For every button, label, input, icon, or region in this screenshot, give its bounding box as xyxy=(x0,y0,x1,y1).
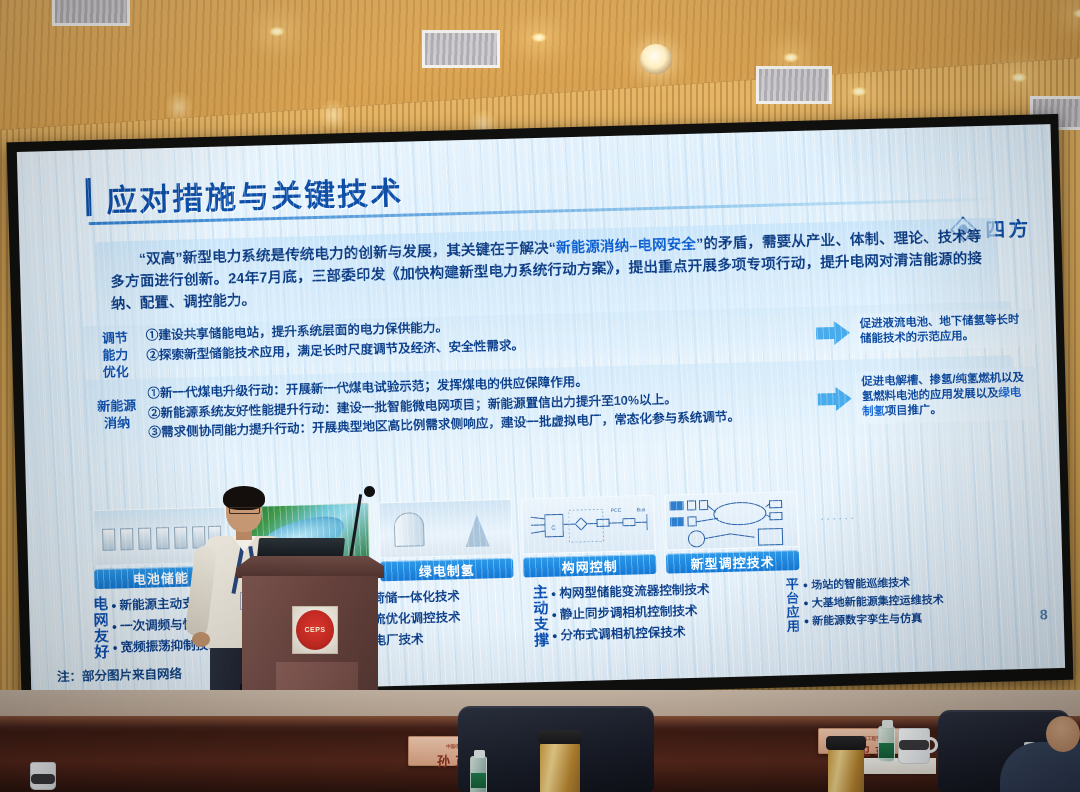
callout-consumption: 促进电解槽、掺氢/纯氢燃机以及氢燃料电池的应用发展以及绿电制氢项目推广。 xyxy=(817,367,1038,426)
hvac-vent xyxy=(756,66,832,104)
ceiling-downlight xyxy=(268,26,286,37)
right-arrow-icon xyxy=(817,385,852,412)
tech-item: 静止同步调相机控制技术 xyxy=(551,600,710,625)
new-dispatch-diagram xyxy=(664,491,798,551)
slide-footnote: 注：部分图片来自网络 xyxy=(57,663,182,685)
bus-label: Bus xyxy=(637,507,646,513)
measure-label-regulation: 调节 能力 优化 xyxy=(84,327,147,382)
thumbnail-caption: 绿电制氢 xyxy=(380,558,513,582)
tech-item-list: 构网型储能变流器控制技术 静止同步调相机控制技术 分布式调相机控保技术 xyxy=(551,579,711,646)
water-bottle xyxy=(470,756,487,792)
intro-paragraph: “双高”新型电力系统是传统电力的创新与发展，其关键在于解决“新能源消纳–电网安全… xyxy=(109,226,982,316)
tech-item: 大基地新能源集控运维技术 xyxy=(803,591,944,613)
label-line: 新能源 xyxy=(85,397,147,416)
pcc-label: PCC xyxy=(611,508,622,514)
measure-label-consumption: 新能源 消纳 xyxy=(85,385,149,445)
podium-laptop xyxy=(257,538,345,558)
attendee-head xyxy=(1046,716,1080,752)
right-arrow-icon xyxy=(816,320,851,347)
presenter-hand xyxy=(192,632,210,647)
label-line: 调节 xyxy=(84,329,146,348)
tech-column-label: 平台应用 xyxy=(783,577,801,633)
thermos-flask xyxy=(828,748,864,792)
callout-text: 促进电解槽、掺氢/纯氢燃机以及氢燃料电池的应用发展以及绿电制氢项目推广。 xyxy=(855,367,1038,425)
green-hydrogen-photo xyxy=(378,499,512,559)
presentation-slide: 应对措施与关键技术 四方 “双高”新型电力系统是传统电力的创新与发展，其关键在于… xyxy=(17,124,1065,696)
ceiling-downlight xyxy=(850,86,868,97)
ceiling-downlight xyxy=(782,52,800,63)
microphone-icon xyxy=(364,486,375,497)
thumbnail-green-hydrogen: 绿电制氢 xyxy=(378,499,513,582)
conference-room-photo: 应对措施与关键技术 四方 “双高”新型电力系统是传统电力的创新与发展，其关键在于… xyxy=(0,0,1080,792)
slide-page-number: 8 xyxy=(1040,606,1048,622)
ceiling-downlight xyxy=(1010,72,1028,83)
callout-text: 促进液流电池、地下储氢等长时储能技术的示范应用。 xyxy=(853,309,1036,352)
thermos-flask xyxy=(540,742,580,792)
tech-item-list: 场站的智能巡维技术 大基地新能源集控运维技术 新能源数字孪生与仿真 xyxy=(803,573,945,631)
thumbnail-new-dispatch: 新型调控技术 xyxy=(664,491,799,574)
label-line: 消纳 xyxy=(86,414,148,433)
ceiling-dome-light xyxy=(640,44,672,74)
tech-column-platform: 平台应用 场站的智能巡维技术 大基地新能源集控运维技术 新能源数字孪生与仿真 xyxy=(783,573,945,641)
intro-highlight: 新能源消纳–电网安全 xyxy=(556,237,697,257)
tea-mug xyxy=(898,728,930,764)
projection-screen: 应对措施与关键技术 四方 “双高”新型电力系统是传统电力的创新与发展，其关键在于… xyxy=(7,114,1074,708)
title-accent-bar xyxy=(86,178,92,216)
callout-text-tail: 项目推广。 xyxy=(885,404,942,418)
thumbnail-caption: 构网控制 xyxy=(523,554,656,578)
podium-emblem: CEPS xyxy=(292,606,338,654)
ellipsis-placeholder: ······ xyxy=(807,489,868,547)
thumbnail-grid-forming: C PCC Bus xyxy=(521,495,656,578)
tech-column-active-support: 主动支撑 构网型储能变流器控制技术 静止同步调相机控制技术 分布式调相机控保技术 xyxy=(531,577,785,648)
page-title: 应对措施与关键技术 xyxy=(105,168,403,221)
thumbnail-caption: 新型调控技术 xyxy=(666,550,799,574)
ceiling-downlight xyxy=(530,32,548,43)
emblem-text: CEPS xyxy=(296,610,334,650)
ellipsis-dots: ······ xyxy=(820,510,856,525)
wall-light-glow xyxy=(320,100,346,130)
tech-item: 分布式调相机控保技术 xyxy=(552,621,711,646)
callout-regulation: 促进液流电池、地下储氢等长时储能技术的示范应用。 xyxy=(815,309,1036,353)
tea-mug xyxy=(30,762,56,790)
wall-light-glow xyxy=(166,92,192,122)
grid-forming-diagram: C PCC Bus xyxy=(521,495,655,555)
tech-column-label: 电网友好 xyxy=(91,596,109,660)
hvac-vent xyxy=(422,30,500,68)
svg-text:C: C xyxy=(551,526,556,532)
podium-top xyxy=(236,556,384,578)
thumbnail-ellipsis: ······ xyxy=(807,489,869,570)
tech-item: 新能源数字孪生与仿真 xyxy=(804,609,945,631)
glasses-icon xyxy=(229,507,260,514)
tech-column-label: 主动支撑 xyxy=(531,584,549,648)
hvac-vent xyxy=(52,0,130,26)
label-line: 能力 xyxy=(84,346,146,365)
water-bottle xyxy=(878,726,895,762)
